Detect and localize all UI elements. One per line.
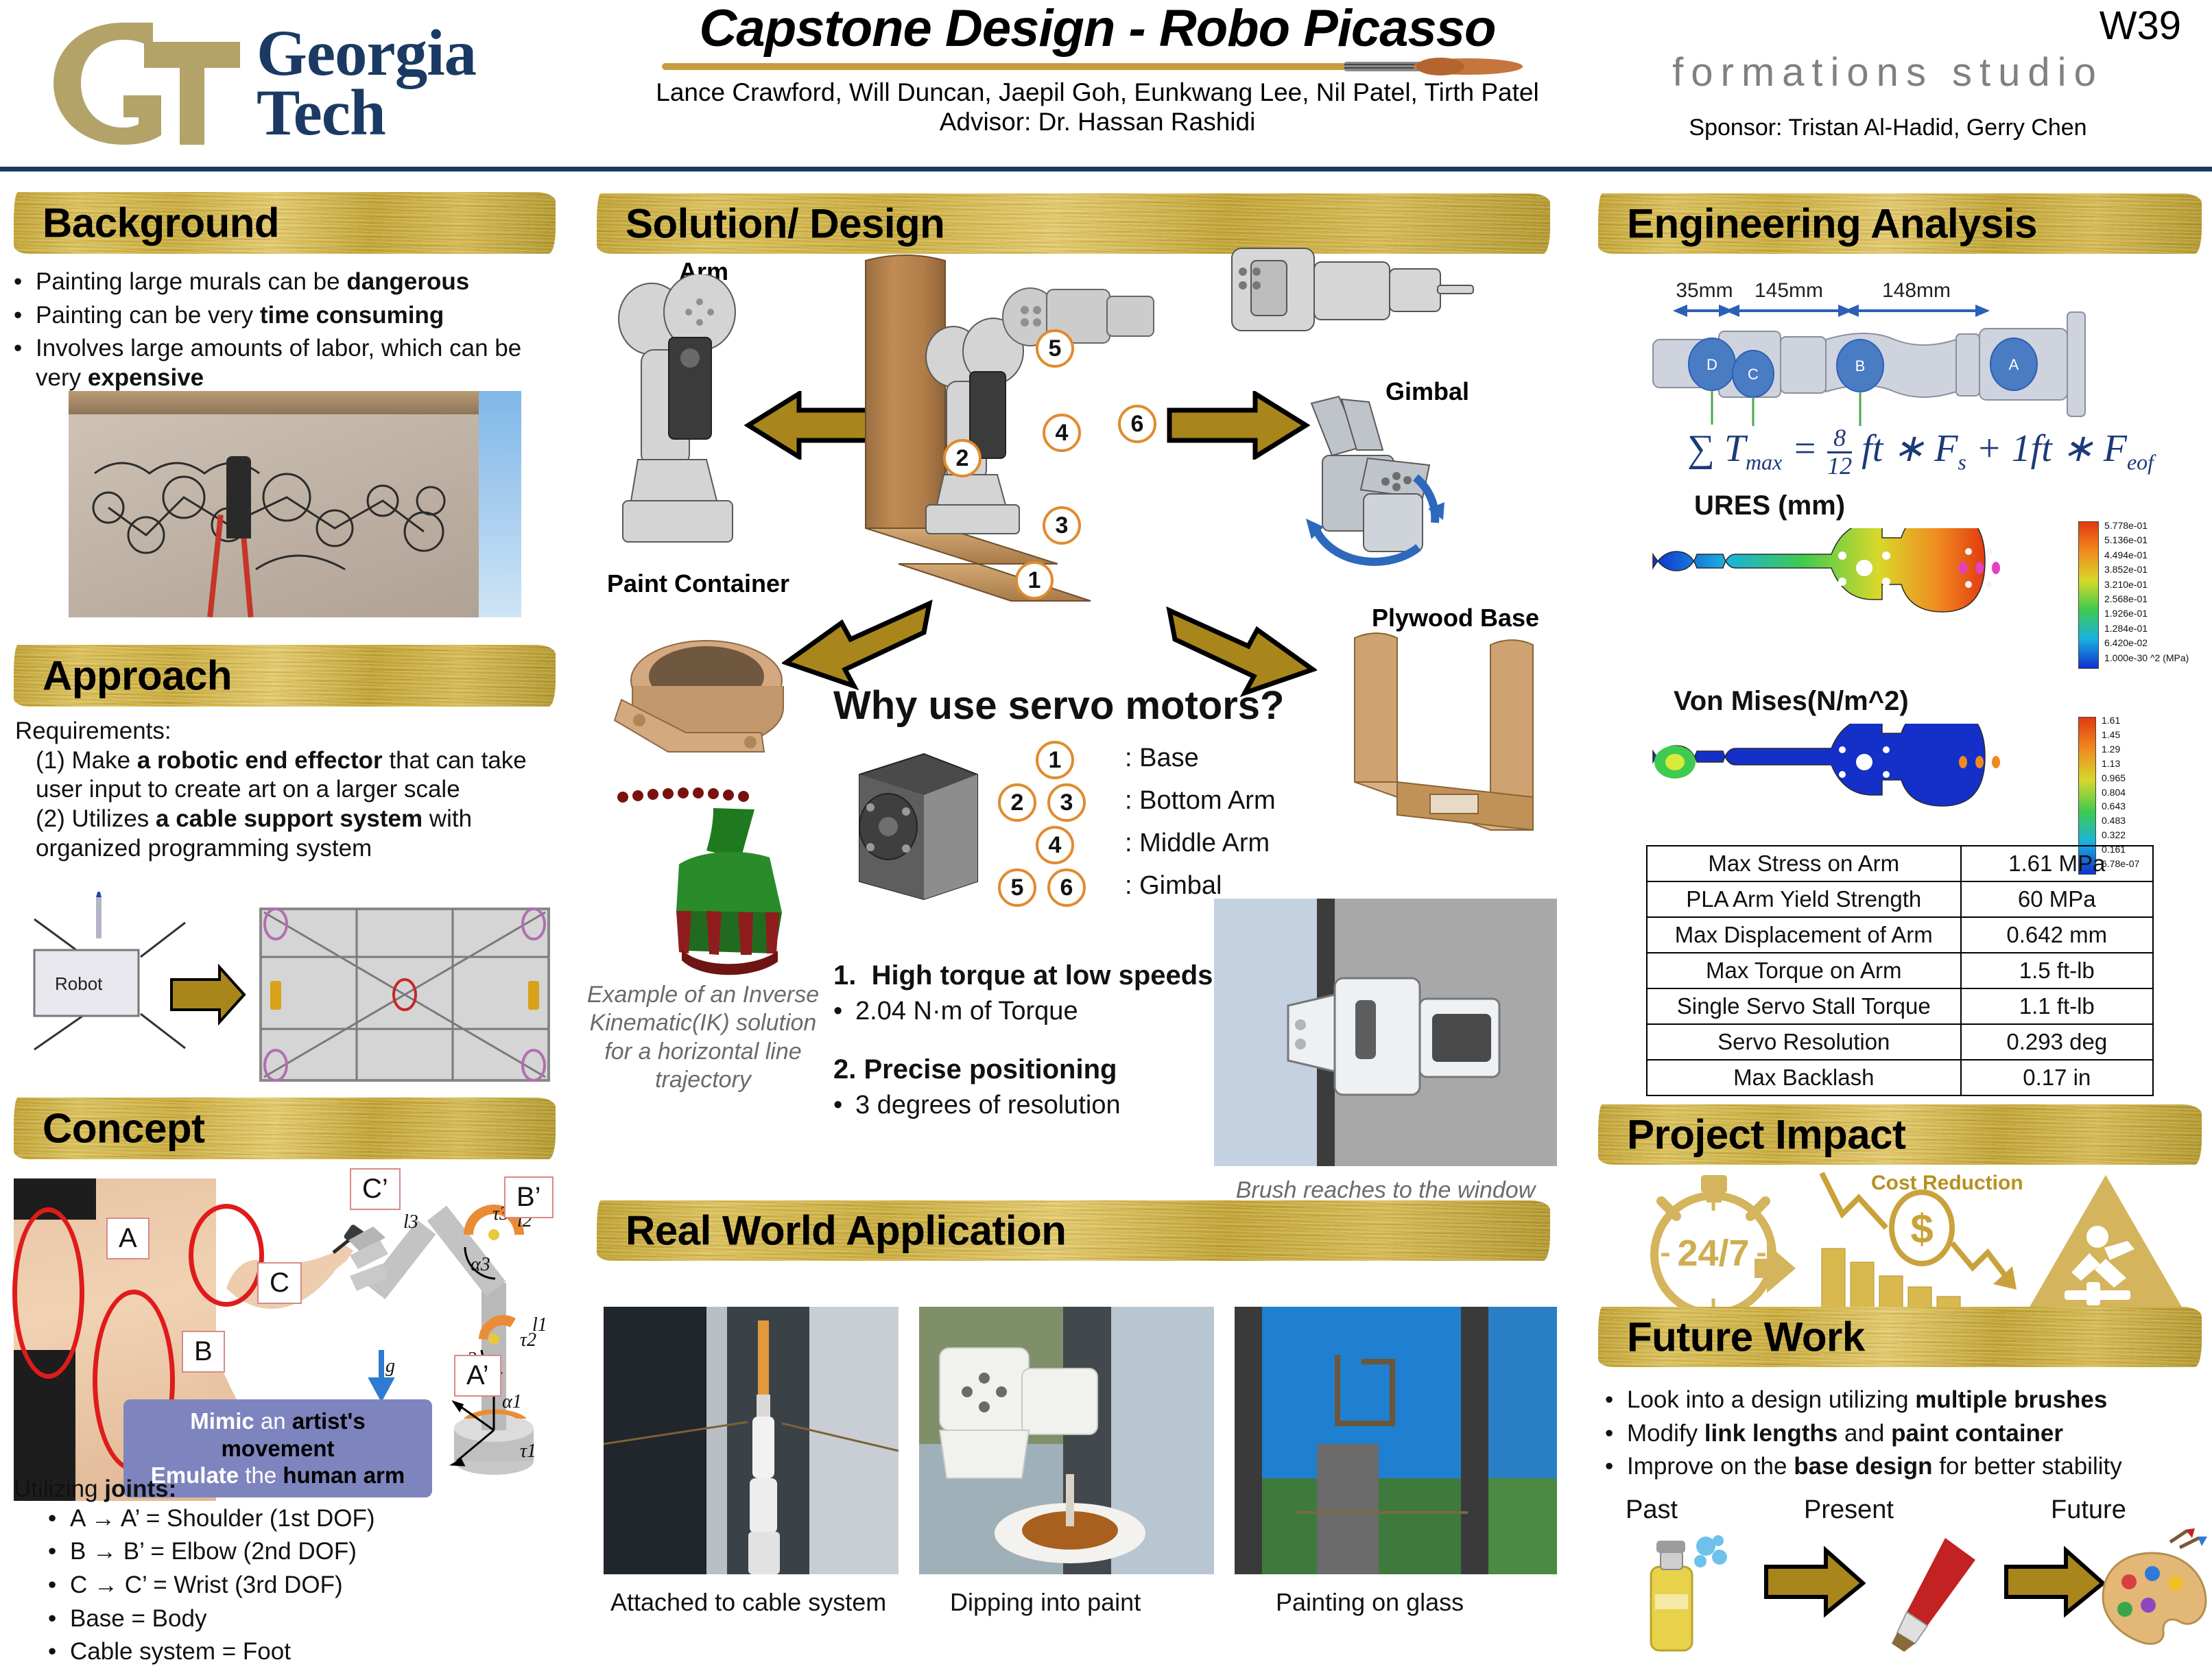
board-number: W39 bbox=[2100, 3, 2181, 49]
full-assembly-render bbox=[816, 254, 1180, 645]
joint-text: A → A’ = Shoulder (1st DOF) bbox=[70, 1504, 374, 1534]
section-heading-future-work: Future Work bbox=[1598, 1307, 2202, 1367]
list-item: •B → B’ = Elbow (2nd DOF) bbox=[48, 1537, 535, 1567]
future-work-heading-text: Future Work bbox=[1627, 1314, 1865, 1361]
cable-system-schematic-icon: Robot bbox=[14, 892, 562, 1098]
real-world-heading-text: Real World Application bbox=[626, 1207, 1066, 1255]
brush-at-window-render bbox=[1214, 899, 1557, 1166]
svg-text:l3: l3 bbox=[403, 1211, 418, 1233]
photo-cable-system-illustration-icon bbox=[604, 1307, 899, 1574]
callout-6: 6 bbox=[1118, 405, 1156, 443]
tick-label: 0.965 bbox=[2102, 771, 2139, 785]
paint-container-render bbox=[604, 617, 830, 768]
sponsor-block: W39 formations studio Sponsor: Tristan A… bbox=[1578, 0, 2198, 141]
tick-label: 1.926e-01 bbox=[2104, 606, 2189, 621]
svg-text:C: C bbox=[1748, 366, 1759, 383]
gt-monogram-icon bbox=[41, 14, 247, 152]
tick-label: 1.13 bbox=[2102, 757, 2139, 771]
list-item: •Base = Body bbox=[48, 1604, 535, 1634]
poster-header: Georgia Tech Capstone Design - Robo Pica… bbox=[0, 0, 2212, 170]
svg-text:B: B bbox=[1855, 357, 1866, 375]
section-heading-background: Background bbox=[14, 192, 556, 254]
table-row: Max Displacement of Arm0.642 mm bbox=[1647, 917, 2153, 953]
table-cell-value: 1.5 ft-lb bbox=[1961, 953, 2153, 988]
table-cell-key: PLA Arm Yield Strength bbox=[1647, 881, 1961, 917]
tick-label: 1.284e-01 bbox=[2104, 621, 2189, 636]
legend-text-base: : Base bbox=[1125, 744, 1199, 773]
svg-text:Robot: Robot bbox=[55, 973, 103, 994]
reason-2-bullet-text: 3 degrees of resolution bbox=[855, 1089, 1121, 1121]
reason-1-bullet: • 2.04 N·m of Torque bbox=[833, 995, 1272, 1027]
svg-text:α1: α1 bbox=[502, 1391, 522, 1412]
table-cell-key: Single Servo Stall Torque bbox=[1647, 988, 1961, 1024]
table-cell-key: Max Torque on Arm bbox=[1647, 953, 1961, 988]
bullet-dot: • bbox=[48, 1637, 70, 1667]
advisor-line: Advisor: Dr. Hassan Rashidi bbox=[617, 108, 1578, 137]
dollar-symbol: $ bbox=[1910, 1206, 1933, 1252]
table-cell-value: 60 MPa bbox=[1961, 881, 2153, 917]
bullet-dot: • bbox=[48, 1537, 70, 1567]
joints-list: Utilizing joints: •A → A’ = Shoulder (1s… bbox=[14, 1475, 535, 1671]
project-impact-heading-text: Project Impact bbox=[1627, 1111, 1905, 1159]
engineering-heading-text: Engineering Analysis bbox=[1627, 200, 2037, 248]
photo-painting-glass-illustration-icon bbox=[1235, 1307, 1557, 1574]
tick-label: 5.778e-01 bbox=[2104, 519, 2189, 533]
mural-artwork-icon bbox=[81, 432, 465, 604]
svg-text:D: D bbox=[1706, 356, 1717, 373]
legend-num-6: 6 bbox=[1047, 868, 1086, 907]
reason-2-heading: 2. Precise positioning bbox=[833, 1054, 1272, 1085]
callout-1: 1 bbox=[1015, 561, 1054, 600]
muralist-figure bbox=[226, 456, 251, 538]
spray-can-icon bbox=[1615, 1531, 1739, 1655]
svg-text:τ1: τ1 bbox=[520, 1441, 536, 1462]
vonmises-plot-title: Von Mises(N/m^2) bbox=[1674, 686, 1909, 717]
table-row: Max Torque on Arm1.5 ft-lb bbox=[1647, 953, 2153, 988]
wrist-highlight-ellipse bbox=[189, 1204, 264, 1307]
bullet-text: Painting can be very time consuming bbox=[36, 301, 444, 331]
table-row: Max Stress on Arm1.61 MPa bbox=[1647, 846, 2153, 881]
svg-text:g: g bbox=[385, 1355, 395, 1377]
stopwatch-label: 24/7 bbox=[1677, 1233, 1749, 1274]
stopwatch-24-7-icon: 24/7 bbox=[1626, 1170, 1818, 1320]
joints-title: Utilizing joints: bbox=[14, 1475, 535, 1504]
caption-painting-glass: Painting on glass bbox=[1276, 1588, 1464, 1617]
ik-caption: Example of an Inverse Kinematic(IK) solu… bbox=[586, 981, 820, 1095]
list-item: • Improve on the base design for better … bbox=[1605, 1452, 2209, 1482]
requirement-2: (2) Utilizes a cable support system with… bbox=[36, 805, 564, 863]
label-b-prime: B’ bbox=[504, 1176, 554, 1218]
list-item: • Look into a design utilizing multiple … bbox=[1605, 1386, 2209, 1415]
caption-cable-system: Attached to cable system bbox=[610, 1588, 886, 1617]
tick-label: 2.568e-01 bbox=[2104, 592, 2189, 606]
timeline-label-present: Present bbox=[1804, 1495, 1894, 1525]
list-item: •A → A’ = Shoulder (1st DOF) bbox=[48, 1504, 535, 1534]
ures-contour-plot bbox=[1646, 528, 2065, 652]
bullet-text: Look into a design utilizing multiple br… bbox=[1627, 1386, 2107, 1415]
list-item: • Painting large murals can be dangerous bbox=[14, 268, 556, 297]
bullet-dot: • bbox=[1605, 1452, 1627, 1482]
list-item: • Painting can be very time consuming bbox=[14, 301, 556, 331]
table-cell-key: Max Backlash bbox=[1647, 1060, 1961, 1095]
paintbrush-divider-icon bbox=[655, 58, 1540, 75]
bullet-dot: • bbox=[48, 1571, 70, 1600]
georgia-tech-logo: Georgia Tech bbox=[41, 11, 576, 155]
tick-label: 0.483 bbox=[2102, 814, 2139, 828]
servo-legend: 1 : Base 2 3 : Bottom Arm 4 : Middle Arm… bbox=[998, 741, 1361, 911]
callout-4: 4 bbox=[1043, 414, 1081, 452]
bullet-dot: • bbox=[833, 995, 855, 1027]
svg-text:145mm: 145mm bbox=[1755, 279, 1823, 302]
table-cell-key: Servo Resolution bbox=[1647, 1024, 1961, 1060]
servo-motor-render bbox=[847, 744, 984, 909]
tick-label: 3.210e-01 bbox=[2104, 578, 2189, 592]
arrow-gold-timeline-2-icon bbox=[2003, 1537, 2106, 1646]
callout-3: 3 bbox=[1043, 506, 1081, 545]
mural-painting-photo bbox=[69, 391, 521, 617]
servo-section-title: Why use servo motors? bbox=[833, 683, 1355, 728]
approach-text: Requirements: (1) Make a robotic end eff… bbox=[15, 717, 564, 863]
legend-text-gimbal: : Gimbal bbox=[1125, 871, 1222, 901]
sponsor-line: Sponsor: Tristan Al-Hadid, Gerry Chen bbox=[1578, 115, 2198, 141]
approach-heading-text: Approach bbox=[43, 652, 232, 700]
legend-text-bottom-arm: : Bottom Arm bbox=[1125, 786, 1276, 816]
future-work-bullets: • Look into a design utilizing multiple … bbox=[1605, 1386, 2209, 1486]
bullet-dot: • bbox=[1605, 1419, 1627, 1449]
table-cell-key: Max Displacement of Arm bbox=[1647, 917, 1961, 953]
torque-equation: ∑ Tmax = 8 12 ft ∗ Fs + 1ft ∗ Feof bbox=[1660, 425, 2181, 479]
callout-line-1: Mimic an artist's movement bbox=[133, 1408, 423, 1462]
table-cell-value: 0.17 in bbox=[1961, 1060, 2153, 1095]
paintbrush-icon bbox=[1879, 1530, 2003, 1653]
analysis-results-table: Max Stress on Arm1.61 MPa PLA Arm Yield … bbox=[1646, 845, 2154, 1096]
callout-2: 2 bbox=[943, 439, 982, 477]
label-c: C bbox=[257, 1262, 302, 1304]
ik-solution-render bbox=[610, 782, 837, 981]
tick-label: 0.322 bbox=[2102, 828, 2139, 842]
slip-hazard-warning-icon bbox=[2023, 1170, 2188, 1320]
label-a: A bbox=[106, 1218, 150, 1259]
photo-painting-glass bbox=[1235, 1307, 1557, 1574]
table-row: Servo Resolution0.293 deg bbox=[1647, 1024, 2153, 1060]
gt-word-georgia: Georgia bbox=[257, 23, 476, 83]
table-cell-value: 0.293 deg bbox=[1961, 1024, 2153, 1060]
cost-reduction-label: Cost Reduction bbox=[1871, 1172, 2023, 1195]
studio-wordmark: formations studio bbox=[1578, 49, 2198, 95]
bullet-dot: • bbox=[48, 1504, 70, 1534]
brush-window-illustration-icon bbox=[1214, 899, 1557, 1166]
table-cell-value: 1.61 MPa bbox=[1961, 846, 2153, 881]
svg-text:148mm: 148mm bbox=[1882, 279, 1951, 302]
header-divider bbox=[0, 167, 2212, 171]
tick-label: 0.804 bbox=[2102, 785, 2139, 800]
tick-label: 1.000e-30 ^2 (MPa) bbox=[2104, 651, 2189, 665]
svg-text:A: A bbox=[2009, 356, 2019, 373]
tick-label: 1.61 bbox=[2102, 713, 2139, 728]
bullet-text: Painting large murals can be dangerous bbox=[36, 268, 469, 297]
joint-text: Base = Body bbox=[70, 1604, 206, 1634]
photo-dipping-paint-illustration-icon bbox=[919, 1307, 1214, 1574]
arrow-gold-timeline-1-icon bbox=[1763, 1537, 1866, 1646]
table-row: Single Servo Stall Torque1.1 ft-lb bbox=[1647, 988, 2153, 1024]
bullet-dot: • bbox=[14, 334, 36, 392]
callout-5: 5 bbox=[1036, 329, 1074, 368]
bullet-text: Modify link lengths and paint container bbox=[1627, 1419, 2063, 1449]
ures-plot-title: URES (mm) bbox=[1694, 490, 1845, 521]
gimbal-render bbox=[1276, 384, 1482, 590]
legend-row-middle-arm: 4 : Middle Arm bbox=[998, 826, 1361, 868]
title-block: Capstone Design - Robo Picasso Lance Cra… bbox=[617, 3, 1578, 137]
joint-text: Cable system = Foot bbox=[70, 1637, 291, 1667]
table-cell-value: 0.642 mm bbox=[1961, 917, 2153, 953]
legend-num-5: 5 bbox=[998, 868, 1036, 907]
paint-palette-icon bbox=[2099, 1528, 2209, 1652]
ures-colorbar-gradient bbox=[2078, 521, 2099, 669]
reason-1-heading: 1. High torque at low speeds bbox=[833, 960, 1272, 991]
list-item: •Cable system = Foot bbox=[48, 1637, 535, 1667]
label-paint-container: Paint Container bbox=[607, 569, 789, 598]
svg-text:l1: l1 bbox=[532, 1314, 547, 1336]
requirement-1: (1) Make a robotic end effector that can… bbox=[36, 746, 564, 805]
legend-num-2: 2 bbox=[998, 783, 1036, 822]
bullet-dot: • bbox=[14, 301, 36, 331]
plywood-base-render bbox=[1341, 624, 1554, 851]
svg-text:α3: α3 bbox=[471, 1254, 490, 1275]
section-heading-engineering: Engineering Analysis bbox=[1598, 193, 2202, 254]
reason-2-bullet: • 3 degrees of resolution bbox=[833, 1089, 1272, 1121]
reason-1-bullet-text: 2.04 N·m of Torque bbox=[855, 995, 1078, 1027]
tick-label: 0.643 bbox=[2102, 799, 2139, 814]
bullet-text: Involves large amounts of labor, which c… bbox=[36, 334, 556, 392]
label-c-prime: C’ bbox=[350, 1168, 401, 1210]
georgia-tech-wordmark: Georgia Tech bbox=[257, 23, 476, 143]
legend-num-3: 3 bbox=[1047, 783, 1086, 822]
bullet-dot: • bbox=[48, 1604, 70, 1634]
requirements-label: Requirements: bbox=[15, 717, 564, 746]
tick-label: 3.852e-01 bbox=[2104, 562, 2189, 577]
svg-text:35mm: 35mm bbox=[1676, 279, 1733, 302]
author-list: Lance Crawford, Will Duncan, Jaepil Goh,… bbox=[617, 78, 1578, 108]
mural-sky bbox=[479, 391, 521, 617]
section-heading-project-impact: Project Impact bbox=[1598, 1104, 2202, 1165]
tick-label: 1.45 bbox=[2102, 728, 2139, 742]
arm-dimension-diagram: DCBA 35mm145mm148mm bbox=[1639, 271, 2181, 429]
list-item: • Modify link lengths and paint containe… bbox=[1605, 1419, 2209, 1449]
bullet-dot: • bbox=[14, 268, 36, 297]
section-heading-real-world: Real World Application bbox=[597, 1200, 1550, 1261]
legend-num-1: 1 bbox=[1036, 741, 1074, 779]
table-row: PLA Arm Yield Strength60 MPa bbox=[1647, 881, 2153, 917]
bullet-text: Improve on the base design for better st… bbox=[1627, 1452, 2122, 1482]
label-a-prime: A’ bbox=[454, 1355, 501, 1397]
joint-text: B → B’ = Elbow (2nd DOF) bbox=[70, 1537, 357, 1567]
timeline-label-future: Future bbox=[2051, 1495, 2126, 1525]
table-cell-value: 1.1 ft-lb bbox=[1961, 988, 2153, 1024]
legend-row-bottom-arm: 2 3 : Bottom Arm bbox=[998, 783, 1361, 826]
section-heading-approach: Approach bbox=[14, 645, 556, 707]
solution-heading-text: Solution/ Design bbox=[626, 200, 944, 248]
table-cell-key: Max Stress on Arm bbox=[1647, 846, 1961, 881]
gimbal-detail-top-render bbox=[1228, 226, 1475, 377]
page-title: Capstone Design - Robo Picasso bbox=[617, 3, 1578, 55]
gt-word-tech: Tech bbox=[257, 83, 476, 143]
legend-row-base: 1 : Base bbox=[998, 741, 1361, 783]
tick-label: 4.494e-01 bbox=[2104, 548, 2189, 562]
photo-dipping-paint bbox=[919, 1307, 1214, 1574]
section-heading-concept: Concept bbox=[14, 1098, 556, 1159]
vonmises-contour-plot bbox=[1646, 724, 2065, 840]
caption-dipping-paint: Dipping into paint bbox=[950, 1588, 1141, 1617]
table-row: Max Backlash0.17 in bbox=[1647, 1060, 2153, 1095]
photo-cable-system bbox=[604, 1307, 899, 1574]
tick-label: 1.29 bbox=[2102, 742, 2139, 757]
tick-label: 6.420e-02 bbox=[2104, 636, 2189, 650]
label-b: B bbox=[182, 1331, 225, 1373]
joint-text: C → C’ = Wrist (3rd DOF) bbox=[70, 1571, 343, 1600]
shoulder-highlight-ellipse bbox=[12, 1207, 84, 1379]
mural-cornice bbox=[69, 391, 479, 414]
concept-heading-text: Concept bbox=[43, 1105, 205, 1152]
list-item: • Involves large amounts of labor, which… bbox=[14, 334, 556, 392]
cable-support-diagram: Robot bbox=[14, 892, 562, 1098]
bullet-dot: • bbox=[1605, 1386, 1627, 1415]
timeline-label-past: Past bbox=[1626, 1495, 1678, 1525]
background-bullets: • Painting large murals can be dangerous… bbox=[14, 268, 556, 397]
servo-reasons: 1. High torque at low speeds • 2.04 N·m … bbox=[833, 960, 1272, 1126]
legend-num-4: 4 bbox=[1036, 826, 1074, 864]
list-item: •C → C’ = Wrist (3rd DOF) bbox=[48, 1571, 535, 1600]
background-heading-text: Background bbox=[43, 200, 279, 247]
ures-colorbar-labels: 5.778e-01 5.136e-01 4.494e-01 3.852e-01 … bbox=[2104, 519, 2189, 665]
tick-label: 5.136e-01 bbox=[2104, 533, 2189, 547]
bullet-dot: • bbox=[833, 1089, 855, 1121]
legend-text-middle-arm: : Middle Arm bbox=[1125, 829, 1270, 858]
